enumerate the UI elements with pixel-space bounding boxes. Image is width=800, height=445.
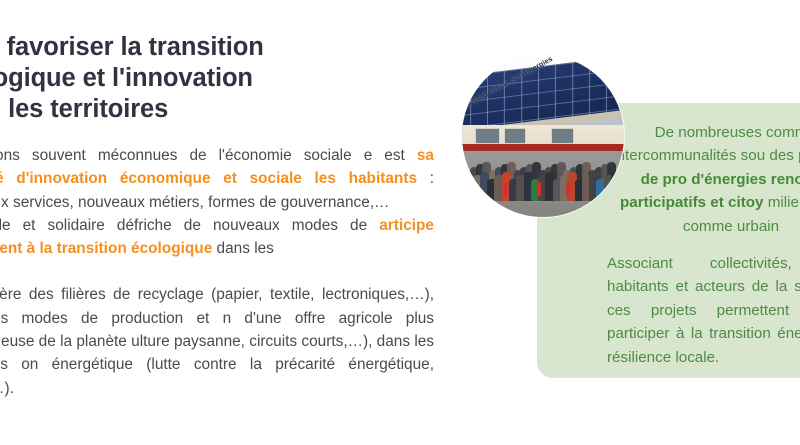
page-title-line-3: dans les territoires <box>0 94 442 125</box>
callout-p2-line-2: habitants et acteurs de la <box>607 278 787 295</box>
page-title: Pour favoriser la transition écologique … <box>0 0 442 125</box>
photo-bollard <box>504 182 508 196</box>
building-window <box>551 128 574 145</box>
callout-paragraph-2: Associant collectivités, entr habitants … <box>607 252 800 369</box>
main-text-column: Pour favoriser la transition écologique … <box>0 0 442 400</box>
paragraph-2: e sociale et solidaire défriche de nouve… <box>0 214 434 261</box>
p1-text-2: e est <box>364 147 417 164</box>
callout-p1-text-1: De nombreuses comm <box>655 124 800 141</box>
paragraph-3: e pionnière des filières de recyclage (p… <box>0 283 434 399</box>
group-photo-solar-panels: © SCIC Plaine Sud Energies <box>462 55 624 217</box>
photo-bollard <box>566 182 570 196</box>
photo-crowd <box>462 146 624 201</box>
p1-text-4: formes de gouvernance,… <box>208 194 389 211</box>
paragraph-1: dimensions souvent méconnues de l'économ… <box>0 144 434 214</box>
callout-text: De nombreuses comm intercommunalités sou… <box>607 121 800 369</box>
page-title-line-2: écologique et l'innovation <box>0 63 442 94</box>
photo-bollard <box>537 182 541 196</box>
callout-p1-text-2: intercommunalités sou <box>613 147 765 164</box>
p2-text-1: e sociale et solidaire défriche de nouve… <box>0 217 367 234</box>
p1-text-1: dimensions souvent méconnues de l'économ… <box>0 147 352 164</box>
building-window <box>475 128 500 145</box>
p1-highlight-2: les habitants <box>315 170 418 187</box>
p3-line-5: on énergétique (lutte contre la précarit… <box>21 356 434 373</box>
p3-line-1: e pionnière des filières de recyclage (p… <box>0 286 314 303</box>
p2-text-2: dans les <box>212 240 274 257</box>
page-title-line-1: Pour favoriser la transition <box>0 32 442 63</box>
body-text: dimensions souvent méconnues de l'économ… <box>0 144 434 400</box>
callout-p2-line-1: Associant collectivités, entr <box>607 255 800 272</box>
document-page: Pour favoriser la transition écologique … <box>0 0 800 445</box>
callout-p1-text-3: des <box>769 147 798 164</box>
callout-p1-bold-3: participatifs et citoy <box>620 194 763 211</box>
photo-person <box>618 179 624 201</box>
building-window <box>504 128 525 145</box>
callout-paragraph-1: De nombreuses comm intercommunalités sou… <box>607 121 800 238</box>
paragraph-spacer <box>0 260 434 283</box>
p3-line-6: urable,…). <box>0 380 14 397</box>
callout-p1-bold-2: d'énergies renouv <box>691 171 800 188</box>
